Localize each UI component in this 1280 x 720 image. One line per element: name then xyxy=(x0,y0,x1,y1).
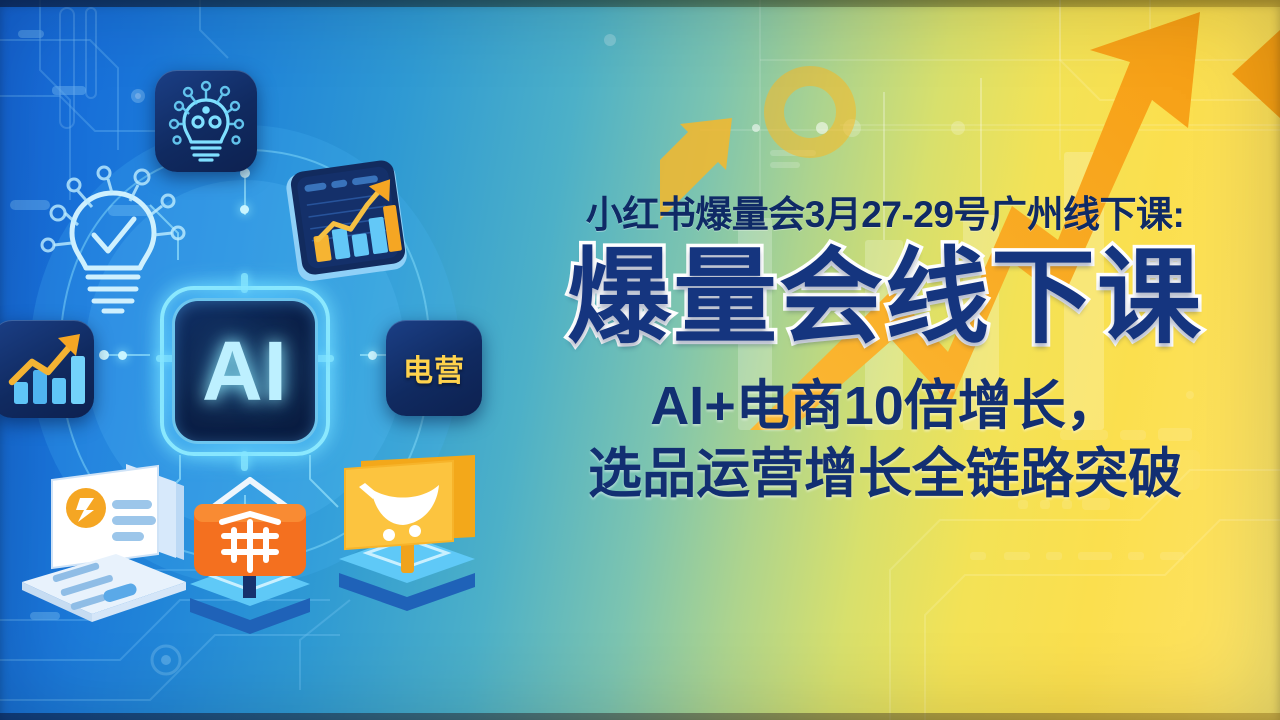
subtitle-line-2: 选品运营增长全链路突破 xyxy=(505,442,1265,508)
ecommerce-ops-badge: 电营 xyxy=(386,320,482,416)
chip-notch-top xyxy=(241,273,248,293)
top-edge-bar xyxy=(0,0,1280,7)
shopping-cart-screen-icon xyxy=(315,445,500,630)
connector-node xyxy=(118,351,127,360)
robot-bulb-icon xyxy=(155,70,257,172)
robot-bulb-glyph xyxy=(155,70,257,172)
page-title: 爆量会线下课 xyxy=(505,240,1265,356)
lightbulb-check-icon xyxy=(38,165,188,325)
bottom-edge-bar xyxy=(0,713,1280,720)
ai-ecosystem-illustration: AI xyxy=(0,55,510,675)
connector-node xyxy=(368,351,377,360)
eyebrow-text: 小红书爆量会3月27-29号广州线下课: xyxy=(505,195,1265,236)
review-sign-icon xyxy=(160,470,340,650)
chip-notch-bottom xyxy=(241,451,248,471)
promo-banner: AI xyxy=(0,0,1280,720)
growth-chart-glyph xyxy=(0,320,94,418)
ai-chip: AI xyxy=(172,298,318,444)
tablet-bar-chart-icon xyxy=(270,150,420,300)
headline-block: 小红书爆量会3月27-29号广州线下课: 爆量会线下课 AI+电商10倍增长， … xyxy=(505,195,1265,508)
ecommerce-ops-label: 电营 xyxy=(403,346,465,390)
connector-node xyxy=(240,205,249,214)
subtitle-line-1: AI+电商10倍增长， xyxy=(505,374,1265,440)
growth-chart-icon xyxy=(0,320,94,418)
ai-chip-label: AI xyxy=(202,329,288,413)
